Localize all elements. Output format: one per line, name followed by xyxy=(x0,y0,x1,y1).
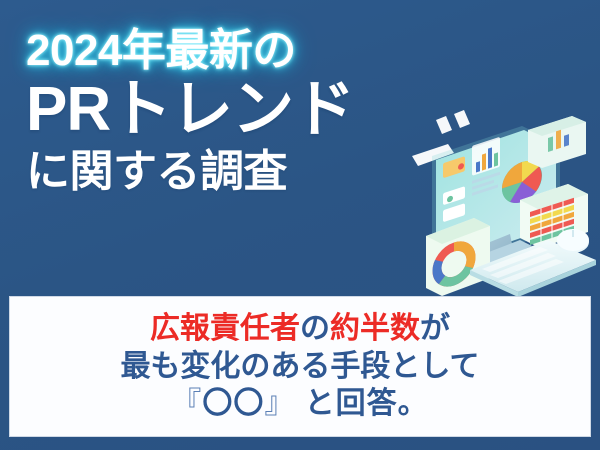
callout-line-2: 最も変化のある手段として xyxy=(120,349,479,384)
headline-block: 2024年最新の PRトレンド に関する調査 xyxy=(26,28,456,195)
callout-particle-ga: が xyxy=(420,312,450,345)
callout-highlight-half: 約半数 xyxy=(330,312,420,345)
callout-line-3: 『〇〇』 と回答。 xyxy=(171,386,428,421)
quote-open-bracket: 『 xyxy=(171,387,202,420)
masked-answer: 〇〇 xyxy=(202,387,264,420)
poster-root: 2024年最新の PRトレンド に関する調査 xyxy=(0,0,600,450)
headline-line-2: PRトレンド xyxy=(26,77,456,144)
callout-highlight-role: 広報責任者 xyxy=(150,312,300,345)
callout-answer-tail: と回答。 xyxy=(305,387,429,420)
callout-particle-no: の xyxy=(300,312,330,345)
headline-line-3: に関する調査 xyxy=(26,148,456,196)
headline-line-1: 2024年最新の xyxy=(26,28,456,75)
quote-close-bracket: 』 xyxy=(264,387,295,420)
callout-panel: 広報責任者の約半数が 最も変化のある手段として 『〇〇』 と回答。 xyxy=(9,296,591,437)
callout-line-1: 広報責任者の約半数が xyxy=(150,311,450,346)
mouse xyxy=(557,229,589,253)
spreadsheet-window-top xyxy=(528,116,586,168)
